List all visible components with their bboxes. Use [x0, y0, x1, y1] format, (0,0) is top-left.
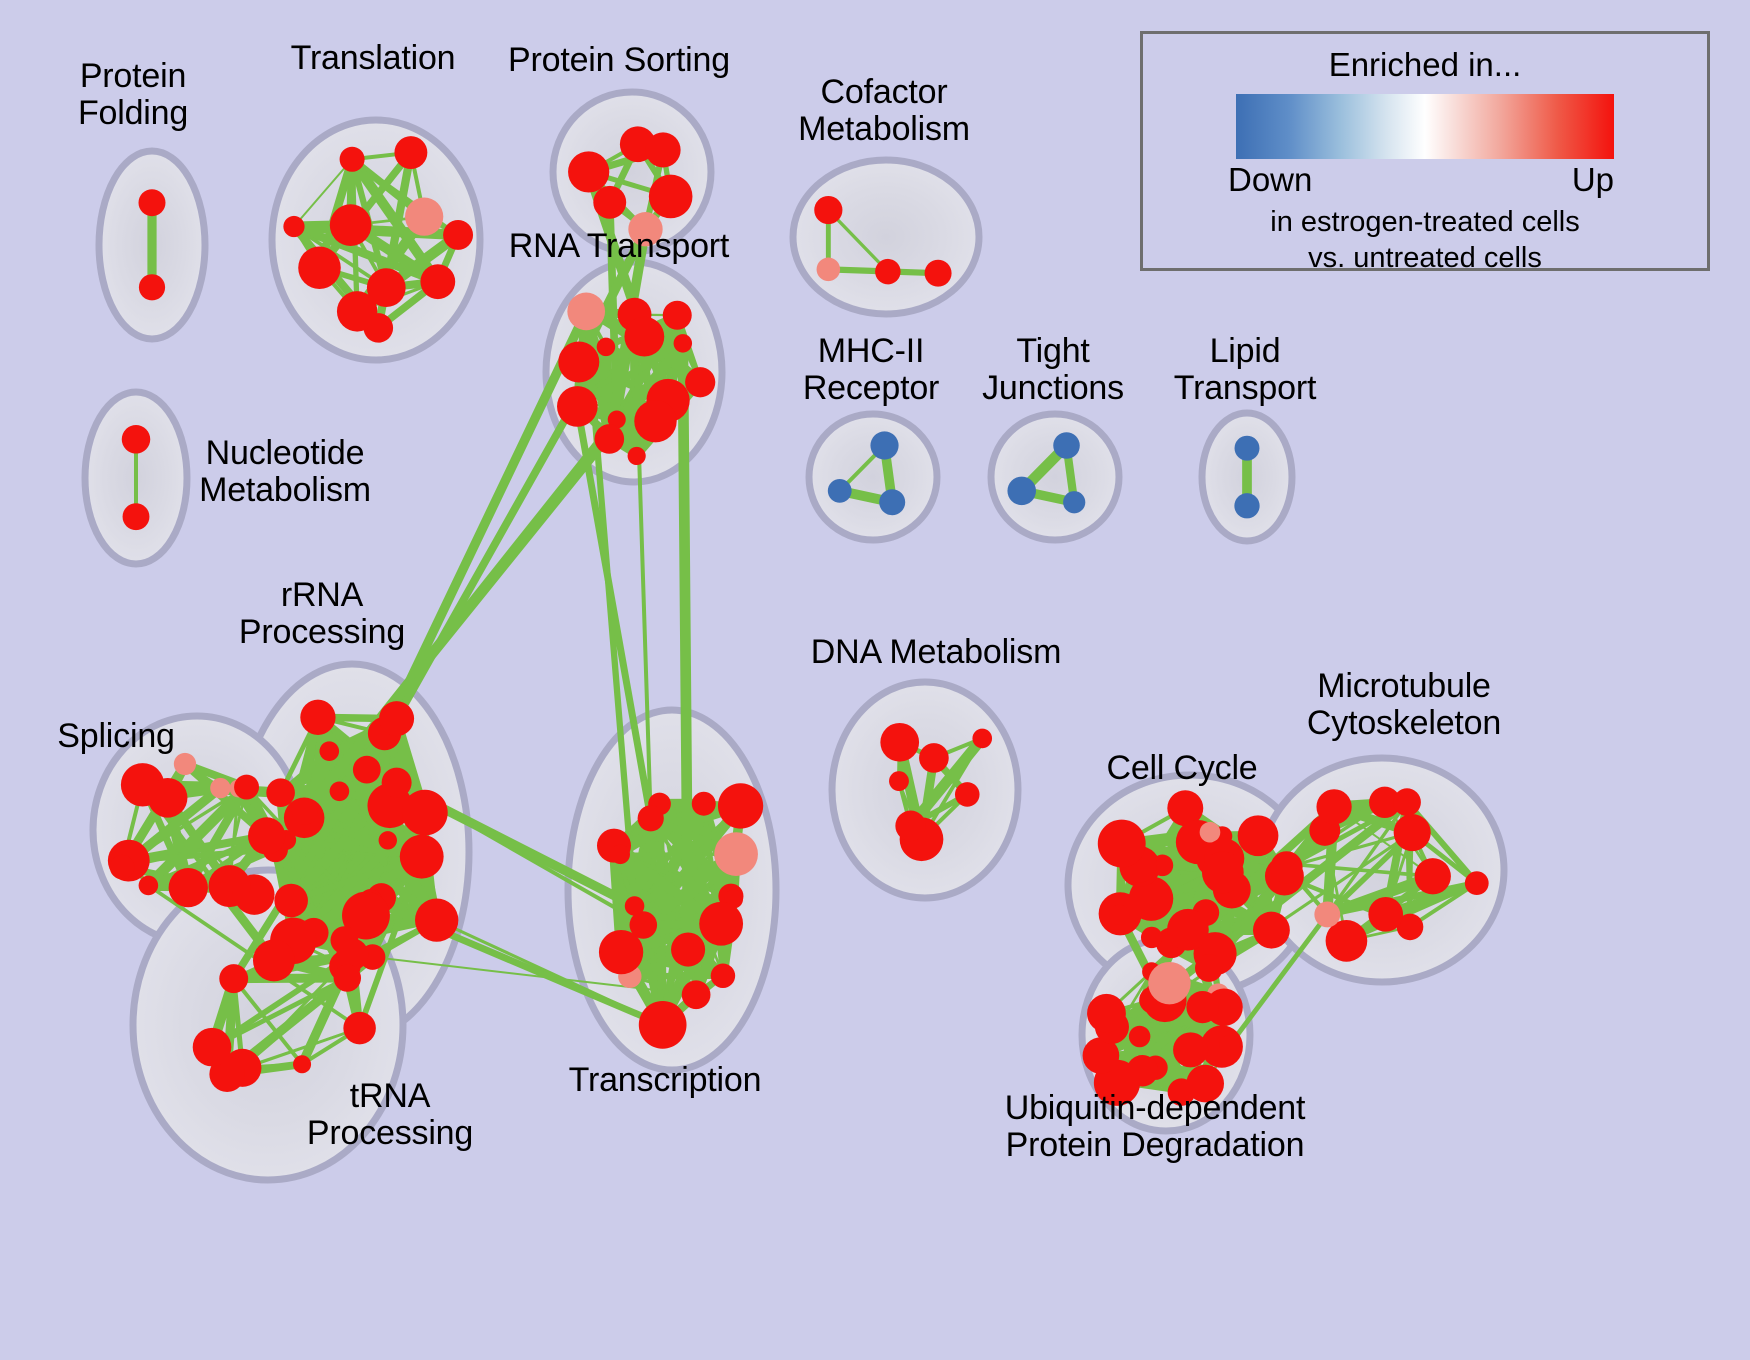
legend-title: Enriched in... [1143, 46, 1707, 84]
network-node [674, 334, 692, 352]
network-node [253, 939, 295, 981]
network-node [1238, 815, 1279, 856]
network-node [646, 132, 681, 167]
network-node [895, 811, 926, 842]
network-node [169, 868, 208, 907]
network-node [1141, 927, 1162, 948]
network-node [682, 980, 711, 1009]
network-node [692, 792, 716, 816]
colorbar [1236, 94, 1614, 159]
network-node [625, 896, 645, 916]
network-node [1173, 1032, 1208, 1067]
network-node [330, 781, 350, 801]
network-node [293, 1055, 311, 1073]
network-node [597, 338, 615, 356]
network-node [123, 503, 150, 530]
network-node [353, 756, 381, 784]
cluster-ellipse-cofactor-metab [793, 160, 979, 314]
network-node [1415, 858, 1451, 894]
network-node [266, 778, 295, 807]
network-node [1253, 912, 1290, 949]
network-node [1314, 901, 1340, 927]
network-node [337, 291, 377, 331]
network-node [379, 831, 397, 849]
network-node [1167, 909, 1209, 951]
network-node [330, 204, 372, 246]
colorbar-low-label: Down [1228, 161, 1312, 199]
network-node [405, 198, 443, 236]
network-node [1007, 477, 1036, 506]
network-node [663, 301, 692, 330]
network-node [1200, 822, 1221, 843]
network-node [925, 260, 952, 287]
network-node [1368, 897, 1403, 932]
network-node [394, 136, 427, 169]
network-node [110, 855, 135, 880]
network-node [174, 753, 196, 775]
network-node [817, 258, 841, 282]
colorbar-high-label: Up [1572, 161, 1614, 199]
cluster-ellipse-tight-junctions [991, 414, 1119, 540]
network-node [1316, 789, 1351, 824]
network-node [340, 147, 365, 172]
network-node [1098, 820, 1146, 868]
network-node [628, 212, 662, 246]
network-node [1195, 954, 1223, 982]
network-node [972, 729, 992, 749]
network-node [828, 479, 852, 503]
legend-caption-line2: vs. untreated cells [1143, 241, 1707, 275]
network-node [611, 845, 630, 864]
network-node [248, 817, 285, 854]
network-node [1087, 994, 1126, 1033]
network-node [193, 1028, 232, 1067]
network-node [210, 778, 230, 798]
network-node [685, 367, 715, 397]
network-node [1219, 1035, 1240, 1056]
network-node [300, 700, 335, 735]
network-node [699, 902, 743, 946]
network-node [595, 424, 625, 454]
network-node [334, 964, 361, 991]
network-node [234, 775, 259, 800]
network-node [714, 832, 758, 876]
network-node [814, 196, 842, 224]
network-node [711, 964, 735, 988]
network-node [593, 186, 626, 219]
network-node [718, 783, 763, 828]
network-node [415, 898, 458, 941]
network-node [1186, 991, 1218, 1023]
network-node [148, 778, 188, 818]
network-node [1109, 905, 1129, 925]
network-node [139, 274, 165, 300]
network-node [1168, 1078, 1196, 1106]
network-node [1393, 788, 1421, 816]
network-node [558, 341, 599, 382]
network-node [1465, 871, 1489, 895]
network-node [889, 771, 909, 791]
network-node [319, 741, 339, 761]
network-node [875, 259, 901, 285]
network-node [402, 790, 448, 836]
network-node [568, 151, 609, 192]
network-node [1234, 493, 1259, 518]
network-node [639, 1001, 687, 1049]
network-node [219, 964, 248, 993]
colorbar-endpoints: Down Up [1236, 161, 1614, 203]
network-node [420, 264, 455, 299]
network-node [919, 743, 949, 773]
network-node [649, 175, 693, 219]
network-node [1063, 491, 1085, 513]
network-node [1235, 436, 1260, 461]
legend-box: Enriched in... Down Up in estrogen-treat… [1140, 31, 1710, 271]
edge-bridge [683, 343, 688, 949]
network-node [122, 425, 150, 453]
network-node [955, 782, 980, 807]
network-node [638, 805, 664, 831]
network-node [139, 189, 166, 216]
network-node [671, 933, 705, 967]
network-node [1148, 962, 1190, 1004]
network-node [880, 723, 919, 762]
network-node [343, 1012, 375, 1044]
network-node [557, 386, 598, 427]
network-node [567, 293, 605, 331]
cluster-ellipse-mhc-ii-receptor [809, 414, 937, 540]
network-node [283, 216, 304, 237]
network-node [443, 220, 473, 250]
network-node [1394, 814, 1431, 851]
network-node [212, 882, 233, 903]
network-node [1053, 432, 1080, 459]
network-node [379, 701, 414, 736]
network-node [274, 884, 308, 918]
network-node [1270, 851, 1302, 883]
network-node [870, 431, 898, 459]
legend-caption-line1: in estrogen-treated cells [1143, 205, 1707, 239]
network-node [1202, 852, 1244, 894]
network-node [400, 835, 444, 879]
network-node [879, 489, 905, 515]
network-node [628, 447, 646, 465]
network-node [1129, 1026, 1151, 1048]
network-node [292, 799, 318, 825]
network-node [298, 246, 341, 289]
network-node [382, 768, 412, 798]
network-node [139, 876, 159, 896]
network-node [634, 400, 676, 442]
figure-canvas: Protein FoldingTranslationProtein Sortin… [0, 0, 1750, 1360]
network-node [624, 317, 664, 357]
